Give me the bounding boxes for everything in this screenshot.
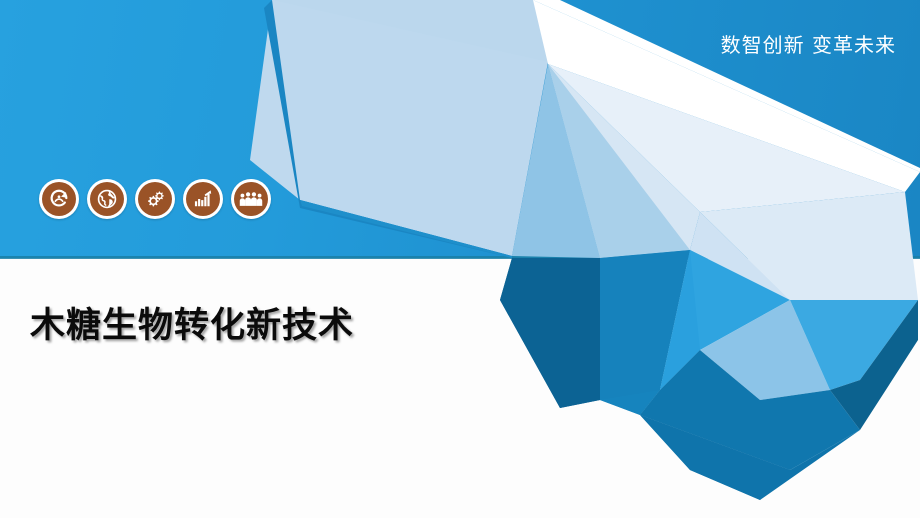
low-poly-crystal-graphic: [0, 0, 920, 518]
page-title: 木糖生物转化新技术: [30, 297, 354, 348]
facet-lower-dark-left-b: [500, 258, 600, 408]
bar-chart-icon: [186, 182, 220, 216]
icon-row: [39, 179, 271, 219]
icon-badge-gears[interactable]: [135, 179, 175, 219]
icon-badge-globe[interactable]: [87, 179, 127, 219]
slide-canvas: 数智创新 变革未来: [0, 0, 920, 518]
recycle-arrow-icon: [42, 182, 76, 216]
globe-icon: [90, 182, 124, 216]
header-tagline: 数智创新 变革未来: [721, 29, 896, 58]
gears-icon: [138, 182, 172, 216]
icon-badge-people-group[interactable]: [231, 179, 271, 219]
icon-badge-recycle-arrow[interactable]: [39, 179, 79, 219]
icon-badge-bar-chart[interactable]: [183, 179, 223, 219]
people-group-icon: [234, 182, 268, 216]
